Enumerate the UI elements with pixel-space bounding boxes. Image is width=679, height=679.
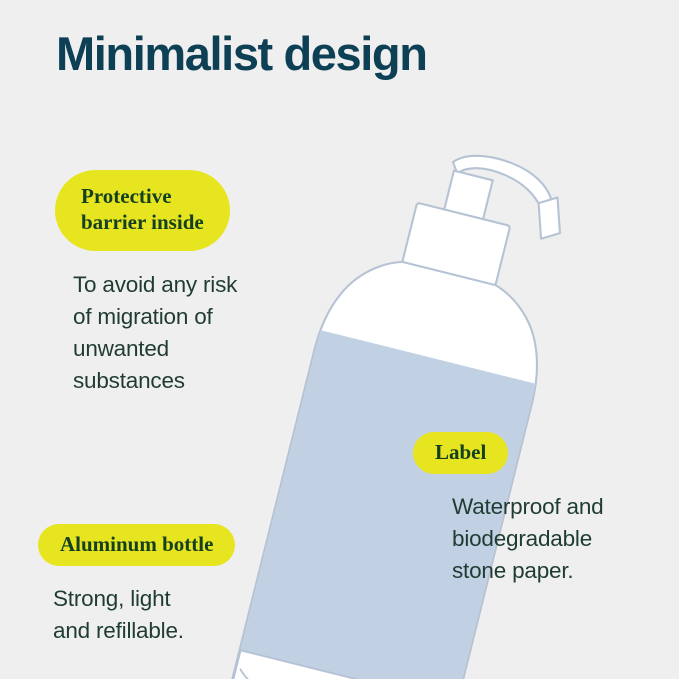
callout-protective-barrier: Protective barrier inside To avoid any r… — [55, 170, 305, 397]
badge-aluminum-bottle[interactable]: Aluminum bottle — [38, 524, 235, 566]
body-text-protective-barrier: To avoid any risk of migration of unwant… — [73, 269, 305, 397]
body-text-aluminum-bottle: Strong, light and refillable. — [53, 583, 308, 647]
badge-label[interactable]: Label — [413, 432, 508, 474]
body-text-label: Waterproof and biodegradable stone paper… — [452, 491, 663, 587]
page-title: Minimalist design — [56, 28, 427, 80]
infographic-canvas: Minimalist design Protective barrier ins… — [0, 0, 679, 679]
callout-aluminum-bottle: Aluminum bottle Strong, light and refill… — [38, 524, 308, 647]
badge-protective-barrier[interactable]: Protective barrier inside — [55, 170, 230, 251]
callout-label: Label Waterproof and biodegradable stone… — [413, 432, 663, 587]
